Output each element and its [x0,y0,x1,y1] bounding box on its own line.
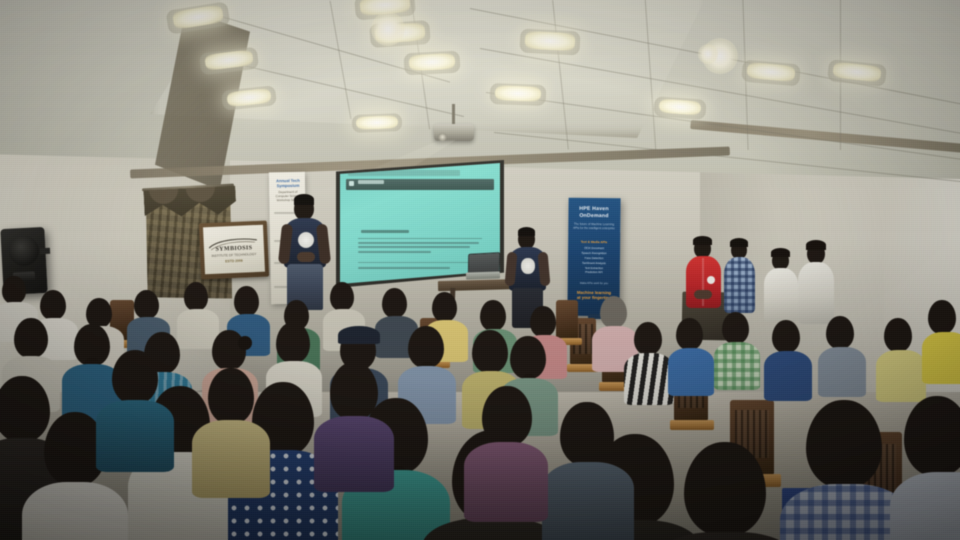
person-head [600,296,627,328]
seminar-hall-photo: SYMBIOSIS INSTITUTE OF TECHNOLOGY ESTD 2… [0,0,960,540]
person-head [806,400,882,488]
site-logo-icon [349,181,354,186]
ceiling-light-icon [409,53,456,71]
person-hair [730,238,748,247]
person-head [904,396,960,476]
chair-seat [670,420,714,430]
person-shirt [764,268,798,322]
person-torso [542,462,634,540]
person-torso [192,420,270,498]
person-head [14,318,48,358]
jacket-logo-icon [707,276,715,284]
person-head [826,316,854,349]
banner-list-items: OCR Document Speech Recognition Face Det… [571,246,617,276]
person-torso [464,442,548,522]
person-torso [818,347,866,397]
person-head [276,322,310,363]
person-hair [294,194,314,205]
person-shirt [724,257,755,313]
person-head [208,368,254,424]
person-checkered-shirt [714,342,760,390]
banner-title: HPE Haven OnDemand [570,206,618,220]
person-head [2,276,26,304]
person-head [530,306,556,337]
site-brand-text [358,180,384,184]
person-head [330,282,354,311]
banner-tagline: The future of Machine Learning APIs for … [571,222,617,231]
standee-title: Annual Tech Symposium [272,178,304,189]
banner-footer-label: Make APIs work for you [571,282,617,285]
content-divider [358,238,483,239]
person-head [382,288,407,318]
person-head [482,386,532,446]
ceiling-light-icon [659,99,702,116]
tshirt-logo-icon [298,232,314,248]
person-head [184,282,208,311]
person-torso [876,350,926,402]
projector-lens-icon [438,133,447,141]
person-head [432,292,457,322]
person-torso [314,416,394,492]
body-text-line [358,251,432,253]
baseball-cap-icon [338,326,380,344]
person-hands [297,252,315,262]
ceiling-light-icon [495,85,541,102]
ceiling-light-icon [525,31,576,52]
person-striped-shirt [624,353,674,405]
person-shirt [798,262,834,324]
person-head [330,362,378,420]
person-head [772,320,800,353]
person-head [112,350,158,404]
person-hair-bun [238,336,252,350]
person-head [134,290,159,319]
person-head [234,286,259,316]
person-head [510,336,546,379]
person-head [40,290,66,320]
person-head [676,318,703,350]
laptop-base [466,271,500,279]
body-text-line [358,267,451,269]
person-torso [96,400,174,472]
ceiling-downlight-icon [698,44,718,64]
person-hands [694,290,712,299]
person-head [480,300,506,331]
person-head [722,312,749,344]
content-divider [358,262,483,263]
ceiling-downlight-icon [371,12,405,46]
tshirt-logo-icon [521,258,535,274]
person-hair [518,227,535,236]
projector-mount [452,104,455,126]
person-torso [922,332,960,384]
person-head [560,402,614,466]
body-text-line [358,242,480,244]
person-torso [22,482,128,540]
person-head [928,300,956,334]
chair-back [556,300,578,338]
person-torso [668,348,714,396]
ceiling-light-icon [356,115,398,129]
person-torso [764,351,812,401]
person-head [684,442,766,536]
person-hair [806,240,826,250]
body-text-line [358,246,470,248]
page-heading-block [361,230,409,233]
person-head [884,318,912,352]
person-hair [771,248,790,257]
person-head [634,322,662,355]
person-hair [693,236,712,245]
banner-list-heading: Text & Media APIs [571,240,617,244]
person-head [472,330,508,373]
loudspeaker-bracket [40,248,50,255]
